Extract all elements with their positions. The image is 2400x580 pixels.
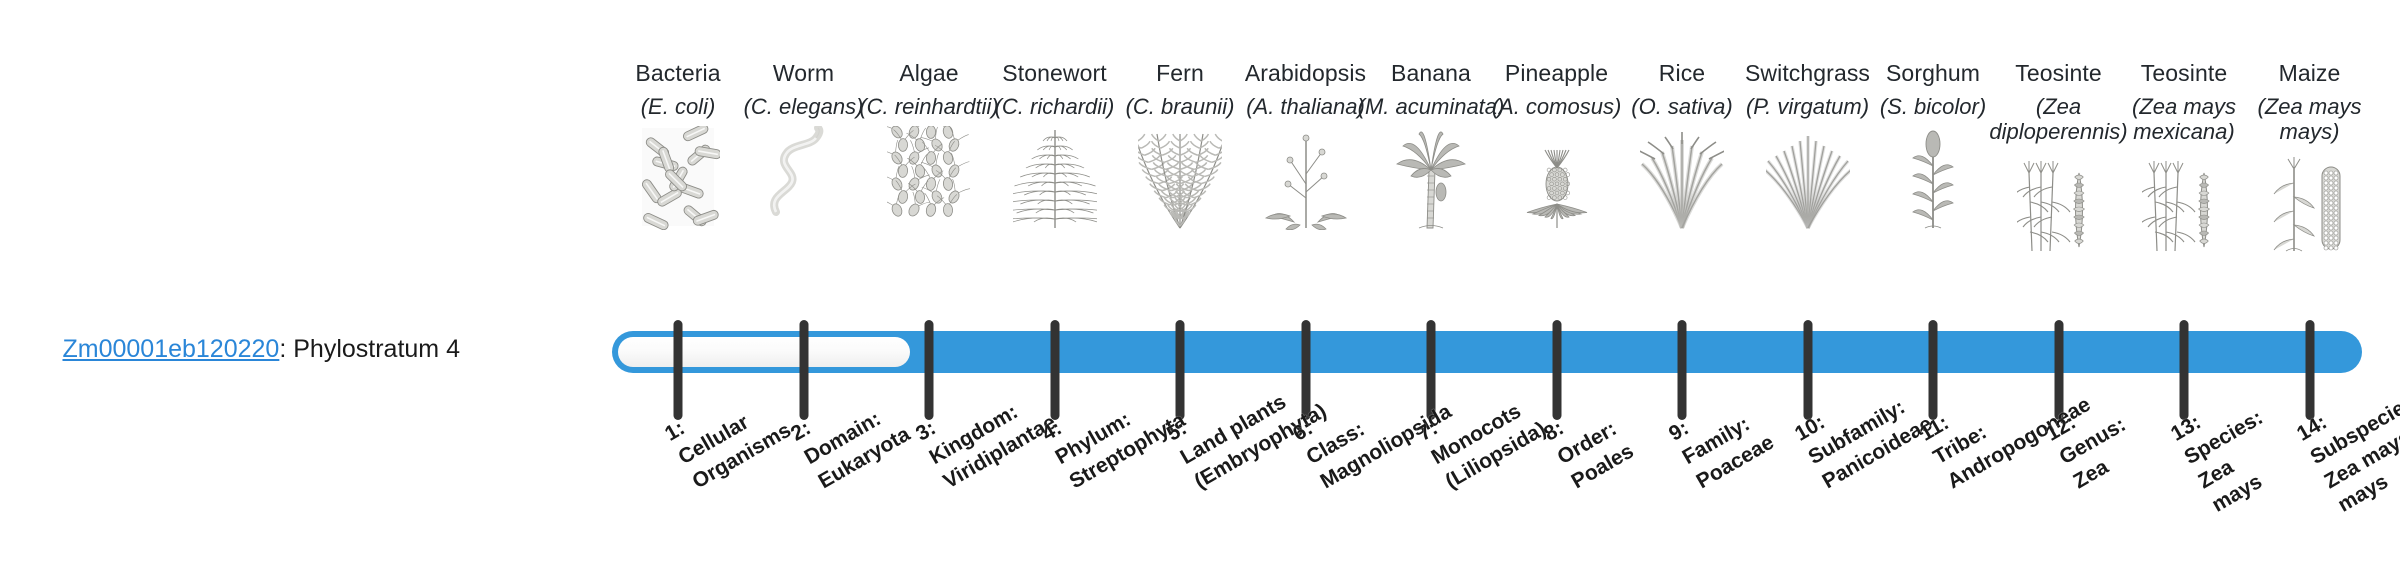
- phylostratum-tick-9[interactable]: [1678, 320, 1687, 420]
- phylostratum-tick-14[interactable]: [2305, 320, 2314, 420]
- phylostratum-tick-2[interactable]: [799, 320, 808, 420]
- phylostratum-tick-13[interactable]: [2180, 320, 2189, 420]
- phylostratum-tick-11[interactable]: [1929, 320, 1938, 420]
- species-latin-name: (Zea mays mays): [2235, 95, 2385, 144]
- phylostratum-tick-10[interactable]: [1803, 320, 1812, 420]
- species-common-name: Maize: [2235, 60, 2385, 86]
- phylostratum-tick-4[interactable]: [1050, 320, 1059, 420]
- phylostratum-tick-5[interactable]: [1176, 320, 1185, 420]
- phylostratum-tick-3[interactable]: [925, 320, 934, 420]
- phylostratum-tick-8[interactable]: [1552, 320, 1561, 420]
- phylostratum-bar-empty: [618, 337, 910, 367]
- phylostratum-tick-1[interactable]: [674, 320, 683, 420]
- maize-plant-and-ear-icon: [2235, 151, 2385, 255]
- species-column-14: Maize(Zea mays mays): [2235, 60, 2385, 255]
- phylostratigraphy-figure: Zm00001eb120220: Phylostratum 4 Bacteria…: [0, 0, 2400, 580]
